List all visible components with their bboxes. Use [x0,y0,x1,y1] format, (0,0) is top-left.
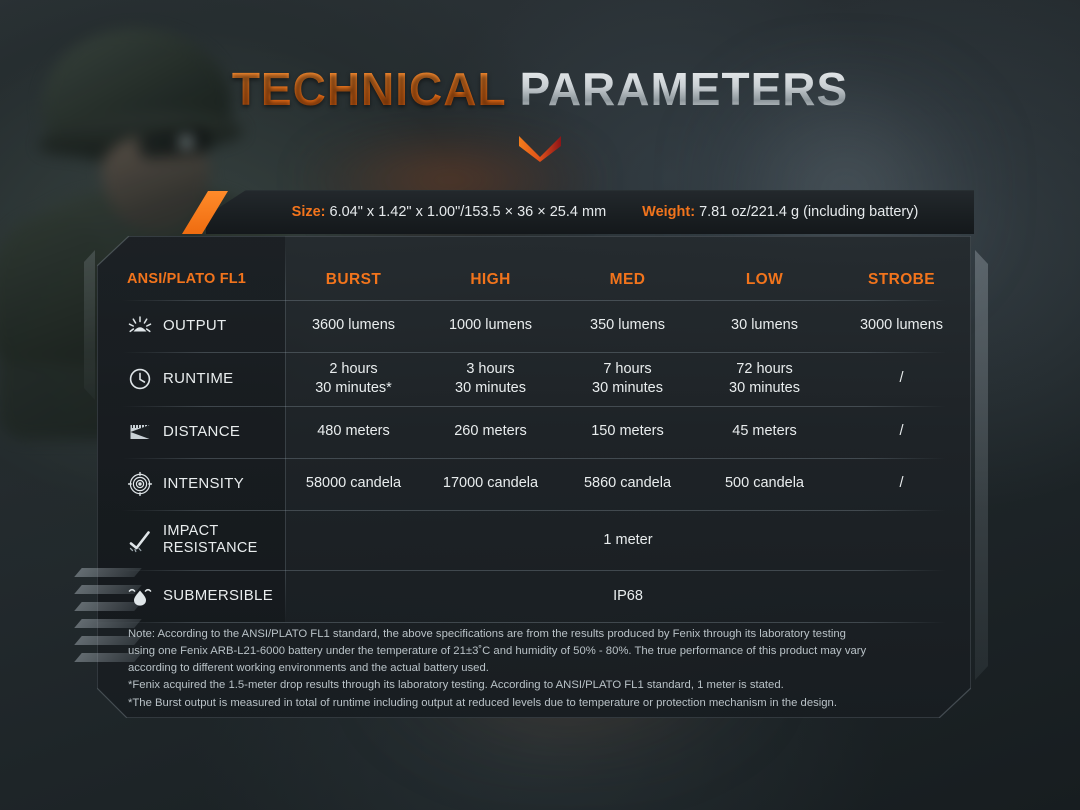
panel-right-edge-decor [975,250,988,680]
row-divider [122,622,946,623]
size-spec: Size: 6.04" x 1.42" x 1.00"/153.5 × 36 ×… [292,204,607,220]
panel-left-edge-decor [84,250,95,400]
weight-label: Weight: [642,204,695,220]
header-strobe: STROBE [833,270,970,290]
page-title: TECHNICAL PARAMETERS [0,62,1080,116]
header-burst: BURST [285,270,422,290]
parameters-table: ANSI/PLATO FL1 BURST HIGH MED LOW STROBE… [97,236,971,622]
runtime-med-l2: 30 minutes [559,379,696,398]
distance-low: 45 meters [696,422,833,441]
table-header-row: ANSI/PLATO FL1 BURST HIGH MED LOW STROBE [97,260,971,300]
output-med: 350 lumens [559,316,696,335]
distance-high: 260 meters [422,422,559,441]
output-burst: 3600 lumens [285,316,422,335]
title-technical: TECHNICAL [232,63,506,115]
table-row-distance: DISTANCE 480 meters 260 meters 150 meter… [97,406,971,458]
impact-resistance-value: 1 meter [285,532,971,548]
output-low: 30 lumens [696,316,833,335]
title-parameters: PARAMETERS [506,63,848,115]
note-line-3: according to different working environme… [128,660,958,677]
weight-spec: Weight: 7.81 oz/221.4 g (including batte… [642,204,918,220]
output-high: 1000 lumens [422,316,559,335]
header-ansi: ANSI/PLATO FL1 [97,270,285,289]
header-high: HIGH [422,270,559,290]
note-line-2: using one Fenix ARB-L21-6000 battery und… [128,643,958,660]
header-low: LOW [696,270,833,290]
row-label-impact-line2: RESISTANCE [163,540,258,557]
row-label-output: OUTPUT [163,317,226,335]
beam-distance-icon [127,419,153,445]
note-line-5: *The Burst output is measured in total o… [128,695,958,712]
distance-med: 150 meters [559,422,696,441]
table-row-submersible: SUBMERSIBLE IP68 [97,570,971,622]
runtime-burst-l1: 2 hours [285,360,422,379]
table-row-impact-resistance: IMPACT RESISTANCE 1 meter [97,510,971,570]
submersible-value: IP68 [285,588,971,604]
clock-icon [127,366,153,392]
sunburst-icon [127,313,153,339]
spec-summary-bar: Size: 6.04" x 1.42" x 1.00"/153.5 × 36 ×… [206,190,974,234]
intensity-burst: 58000 candela [285,474,422,493]
row-label-distance: DISTANCE [163,423,240,441]
distance-burst: 480 meters [285,422,422,441]
header-med: MED [559,270,696,290]
target-intensity-icon [127,471,153,497]
runtime-low-l2: 30 minutes [696,379,833,398]
runtime-med-l1: 7 hours [559,360,696,379]
row-label-impact-line1: IMPACT [163,523,258,540]
row-label-submersible: SUBMERSIBLE [163,587,273,605]
water-drop-icon [127,583,153,609]
intensity-med: 5860 candela [559,474,696,493]
output-strobe: 3000 lumens [833,316,970,335]
table-row-output: OUTPUT 3600 lumens 1000 lumens 350 lumen… [97,300,971,352]
weight-value: 7.81 oz/221.4 g (including battery) [695,204,918,220]
size-value: 6.04" x 1.42" x 1.00"/153.5 × 36 × 25.4 … [326,204,607,220]
intensity-high: 17000 candela [422,474,559,493]
row-label-intensity: INTENSITY [163,475,244,493]
note-line-4: *Fenix acquired the 1.5-meter drop resul… [128,677,958,694]
impact-drop-icon [127,527,153,553]
runtime-strobe: / [833,369,970,388]
size-label: Size: [292,204,326,220]
intensity-low: 500 candela [696,474,833,493]
distance-strobe: / [833,422,970,441]
footnotes: Note: According to the ANSI/PLATO FL1 st… [128,626,958,712]
runtime-high-l1: 3 hours [422,360,559,379]
table-row-runtime: RUNTIME 2 hours30 minutes* 3 hours30 min… [97,352,971,406]
row-label-runtime: RUNTIME [163,370,233,388]
runtime-low-l1: 72 hours [696,360,833,379]
runtime-burst-l2: 30 minutes* [285,379,422,398]
note-line-1: Note: According to the ANSI/PLATO FL1 st… [128,626,958,643]
table-row-intensity: INTENSITY 58000 candela 17000 candela 58… [97,458,971,510]
runtime-high-l2: 30 minutes [422,379,559,398]
intensity-strobe: / [833,474,970,493]
